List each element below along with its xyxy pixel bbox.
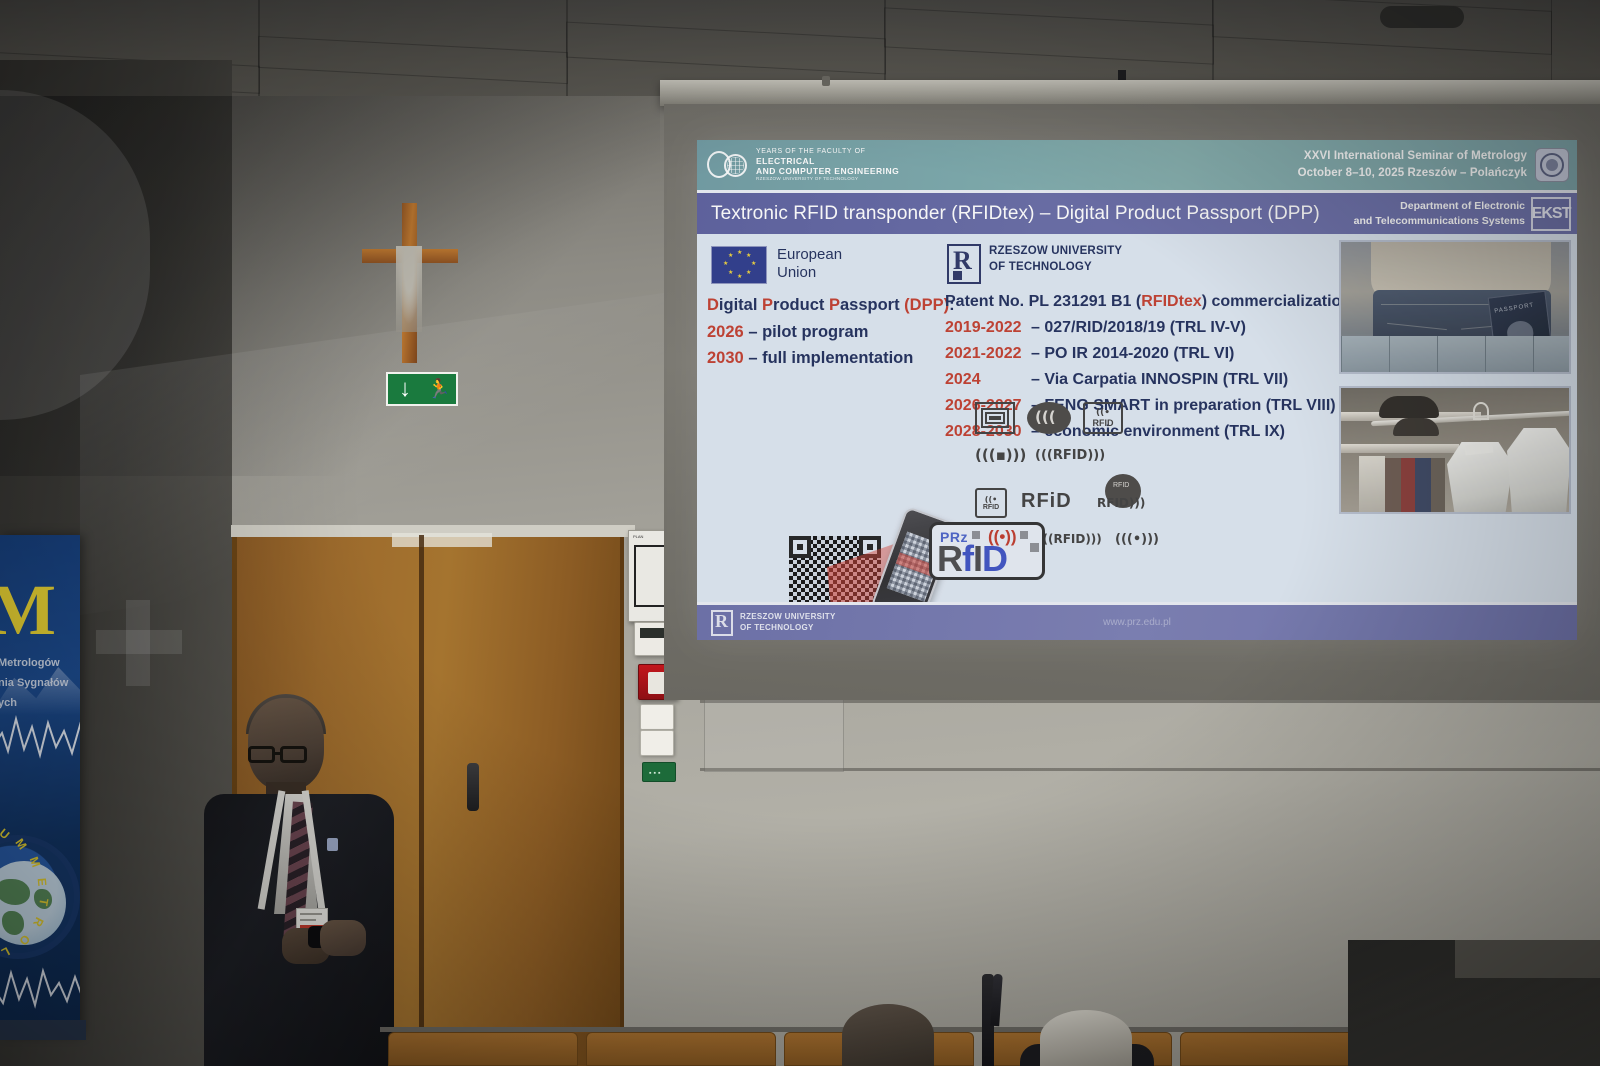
exit-arrow-icon: ↓ [388,377,422,401]
university-line1: RZESZOW UNIVERSITY [989,244,1122,260]
wall-switch-lower[interactable] [640,730,674,756]
rollup-banner: M Metrologów nia Sygnałów ych U M M E [0,535,80,1035]
crucifix-figure [396,246,422,332]
green-sign-dots-icon: ▪▪▪ [649,770,662,777]
sixty-years-icon [707,150,749,180]
prz-rfid-main: RfID [937,541,1007,577]
university-block: R RZESZOW UNIVERSITY OF TECHNOLOGY [947,244,1122,284]
rfid-badge-icon: ((•RFID [1083,402,1123,434]
emergency-exit-sign: ↓ 🏃 [386,372,458,406]
seminar-title: XXVI International Seminar of Metrology [1298,148,1527,165]
jeans-with-passport-photo: PASSPORT [1339,240,1571,374]
rfid-wave-right-icon: RFID))) [1097,494,1145,512]
footer-line1: RZESZOW UNIVERSITY [740,612,836,623]
right-step-edge [1455,940,1600,978]
banner-seal-text: U M M E T R O L O [0,831,80,963]
projected-slide: YEARS OF THE FACULTY OF ELECTRICAL AND C… [697,140,1577,640]
anniversary-line3: AND COMPUTER ENGINEERING [756,166,899,176]
prz-rfid-logo: PRz ((•)) RfID [929,522,1045,580]
wall-recess-panel [704,692,844,772]
rfid-wave-oval-icon: ((( [1027,402,1071,434]
rfid-spiral-antenna-icon [975,402,1015,434]
rfid-logo-collection: ((( ((•RFID (((▪))) (((RFID))) RFID ((•R… [975,402,1157,542]
rfid-wave-text-icon: (((RFID))) [1035,446,1105,464]
university-line2: OF TECHNOLOGY [989,260,1122,276]
ekst-logo-text: EKST [1532,207,1571,220]
wall-switch-upper[interactable] [640,704,674,730]
anniversary-line4: RZESZOW UNIVERSITY OF TECHNOLOGY [756,176,899,181]
waveform-svg [0,705,80,763]
banner-line2: nia Sygnałów [0,677,68,689]
eyeglasses-right-lens [280,746,307,763]
slide-header: YEARS OF THE FACULTY OF ELECTRICAL AND C… [697,140,1577,190]
attendee-dark-hair [842,1004,934,1066]
presenter-head [248,698,324,790]
slide-title-bar: Textronic RFID transponder (RFIDtex) – D… [697,190,1577,234]
patent-row-1-text: – PO IR 2014-2020 (TRL VI) [1031,345,1234,362]
dpp-row-0-year: 2026 [707,323,744,341]
seat [1180,1032,1370,1066]
dpp-row-0-text: – pilot program [748,323,868,341]
rfid-tag-card-icon: ((•RFID [975,488,1007,518]
rfid-wave-text-small-icon: (((RFID))) [1037,530,1102,548]
audience-seating [380,1024,1380,1066]
eyeglasses-bridge [275,752,280,755]
rzeszow-university-mark-icon: R [947,244,981,284]
green-status-sign: ▪▪▪ [642,762,676,782]
seminar-info: XXVI International Seminar of Metrology … [1298,148,1527,181]
eyeglasses-icon [248,746,275,763]
department-line2: and Telecommunications Systems [1354,214,1525,228]
seat [586,1032,776,1066]
patent-row-0-text: – 027/RID/2018/19 (TRL IV-V) [1031,319,1246,336]
banner-waveform-lower [0,955,80,1013]
rfid-dot-wave-icon: (((•))) [1115,530,1159,548]
banner-base [0,1020,86,1040]
seat [388,1032,578,1066]
door-center-seam [419,535,424,1066]
dpp-block: Digital Product Passport (DPP): 2026 – p… [707,292,955,372]
dpp-heading: Digital Product Passport (DPP): [707,292,955,319]
wall-emblem-cross-v [126,600,150,686]
attendee-gray-hair [1040,1010,1132,1066]
slide-title: Textronic RFID transponder (RFIDtex) – D… [711,203,1320,225]
dpp-row-1: 2030 – full implementation [707,345,955,372]
rfid-bold-text-icon: RFiD [1021,490,1072,513]
european-union-block: ★ ★ ★ ★ ★ ★ ★ ★ European Union [711,246,842,284]
department-name: Department of Electronic and Telecommuni… [1354,199,1525,227]
door-sign-plate [392,533,492,547]
patent-heading-pre: Patent No. PL 231291 B1 ( [945,293,1141,310]
rfid-wave-chip-icon: (((▪))) [975,446,1026,465]
presenter [196,690,396,1066]
banner-letter: M [0,569,56,652]
dpp-row-0: 2026 – pilot program [707,319,955,346]
screen-pull-knob[interactable] [822,76,830,86]
anniversary-line1: YEARS OF THE FACULTY OF [756,148,899,156]
patent-row-0-year: 2019-2022 [945,315,1031,341]
patent-row-0: 2019-2022– 027/RID/2018/19 (TRL IV-V) [945,315,1356,341]
footer-url: www.prz.edu.pl [1103,617,1171,628]
evacuation-plan-header: PLAN [633,534,643,539]
patent-heading-post: ) commercialization: [1202,293,1357,310]
banner-line1: Metrologów [0,657,60,669]
presenter-right-hand [320,920,366,956]
banner-waveform-upper [0,705,80,763]
ekst-logo: EKST [1531,197,1571,231]
patent-row-2-year: 2024 [945,367,1031,393]
european-union-flag-icon: ★ ★ ★ ★ ★ ★ ★ ★ [711,246,767,284]
projector-screen-housing [660,80,1600,106]
patent-row-2-text: – Via Carpatia INNOSPIN (TRL VII) [1031,371,1288,388]
anniversary-line2: ELECTRICAL [756,156,899,166]
slide-body: ★ ★ ★ ★ ★ ★ ★ ★ European Union Digital P… [697,234,1577,602]
patent-row-2: 2024– Via Carpatia INNOSPIN (TRL VII) [945,367,1356,393]
ceiling-speaker-icon [1380,6,1464,28]
dpp-row-1-year: 2030 [707,349,744,367]
eu-line1: European [777,246,842,264]
closet-with-shirts-photo [1339,386,1571,514]
footer-line2: OF TECHNOLOGY [740,623,836,634]
department-line1: Department of Electronic [1354,199,1525,213]
footer-university-mark-icon: R [711,610,733,636]
dpp-row-1-text: – full implementation [748,349,913,367]
presenter-lapel-pin [327,838,338,851]
anniversary-logo: YEARS OF THE FACULTY OF ELECTRICAL AND C… [707,148,899,182]
door-handle[interactable] [467,763,479,811]
running-person-icon: 🏃 [422,380,456,399]
patent-heading: Patent No. PL 231291 B1 (RFIDtex) commer… [945,289,1356,315]
seminar-seal-icon [1535,148,1569,182]
eu-line2: Union [777,264,842,282]
lecture-hall-scene: ↓ 🏃 PLAN ▪▪▪ YEARS OF THE FACULTY OF [0,0,1600,1066]
slide-footer: R RZESZOW UNIVERSITY OF TECHNOLOGY www.p… [697,602,1577,640]
patent-row-1-year: 2021-2022 [945,341,1031,367]
patent-row-1: 2021-2022– PO IR 2014-2020 (TRL VI) [945,341,1356,367]
patent-heading-red: RFIDtex [1141,293,1201,310]
waveform-svg-2 [0,955,80,1013]
seminar-dates: October 8–10, 2025 Rzeszów – Polańczyk [1298,165,1527,182]
